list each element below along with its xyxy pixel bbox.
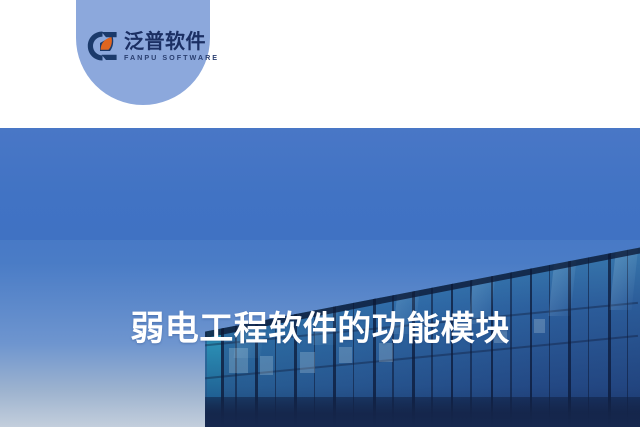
page-root: 泛普软件 FANPU SOFTWARE: [0, 0, 640, 427]
page-title: 弱电工程软件的功能模块: [0, 309, 640, 349]
brand-name-cn: 泛普软件: [124, 31, 219, 51]
hero-banner: 弱电工程软件的功能模块 泛普软件 www.fanpusoft.com: [0, 128, 640, 427]
building-base-band: [205, 397, 640, 427]
brand-wordmark: 泛普软件 FANPU SOFTWARE: [124, 31, 219, 61]
brand-name-en: FANPU SOFTWARE: [124, 54, 219, 61]
brand-logo[interactable]: 泛普软件 FANPU SOFTWARE: [86, 26, 204, 66]
sky-upper-block: [0, 128, 640, 240]
page-header: 泛普软件 FANPU SOFTWARE: [0, 0, 640, 128]
fanpu-logo-mark-icon: [86, 30, 119, 62]
